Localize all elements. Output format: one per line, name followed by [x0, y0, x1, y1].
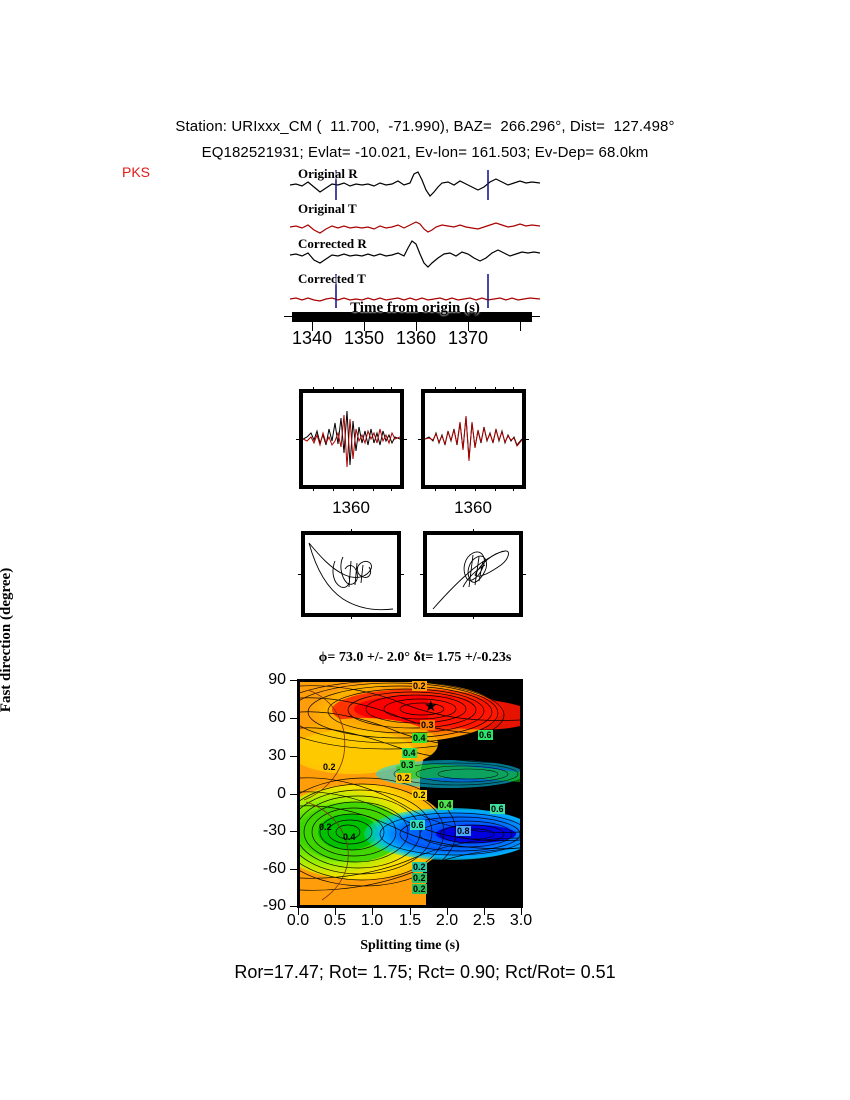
contour-label: 0.2	[412, 681, 427, 691]
contour-label: 0.6	[490, 804, 505, 814]
y-tick-90: 90	[238, 671, 286, 689]
contour-label: 0.2	[412, 873, 427, 883]
trace-label-original-t: Original T	[298, 201, 357, 217]
panel-corrected-particle-motion	[423, 531, 523, 617]
time-tick-1360: 1360	[391, 328, 441, 349]
contour-label: 0.3	[420, 720, 435, 730]
contour-label: 0.2	[412, 884, 427, 894]
contour-y-axis-label: Fast direction (degree)	[0, 540, 15, 740]
energy-contour-plot: 0.2 0.3 0.4 0.6 0.2 0.4 0.3 0.2 0.2 0.2 …	[297, 679, 523, 908]
time-axis-labels: 1340 1350 1360 1370	[270, 328, 560, 354]
time-tick-1370: 1370	[443, 328, 493, 349]
contour-label: 0.2	[396, 773, 411, 783]
time-axis-title: Time from origin (s)	[290, 300, 540, 317]
contour-label: 0.6	[478, 730, 493, 740]
trace-label-corrected-t: Corrected T	[298, 271, 366, 287]
contour-label: 0.3	[400, 760, 415, 770]
contour-x-axis-label: Splitting time (s)	[297, 938, 523, 954]
contour-surface	[300, 682, 520, 905]
splitting-analysis-figure: Station: URIxxx_CM ( 11.700, -71.990), B…	[0, 0, 850, 1100]
quality-metrics-footer: Ror=17.47; Rot= 1.75; Rct= 0.90; Rct/Rot…	[0, 962, 850, 983]
y-tick-0: 0	[238, 785, 286, 803]
contour-label: 0.4	[412, 733, 427, 743]
time-tick-1350: 1350	[339, 328, 389, 349]
contour-label: 0.8	[456, 826, 471, 836]
time-tick-1340: 1340	[287, 328, 337, 349]
trace-label-original-r: Original R	[298, 166, 358, 182]
y-tick-60: 60	[238, 709, 286, 727]
panel-tick-label-right: 1360	[428, 498, 518, 518]
station-header-line: Station: URIxxx_CM ( 11.700, -71.990), B…	[0, 118, 850, 135]
contour-label: 0.4	[402, 748, 417, 758]
y-tick-m30: -30	[238, 822, 286, 840]
pks-phase-label: PKS	[122, 164, 150, 180]
contour-label: 0.2	[322, 762, 337, 772]
contour-plot-title: ϕ= 73.0 +/- 2.0° δt= 1.75 +/-0.23s	[250, 650, 580, 666]
panel-corrected-fast-slow	[421, 389, 526, 489]
trace-label-corrected-r: Corrected R	[298, 236, 367, 252]
contour-label: 0.4	[342, 832, 357, 842]
contour-label: 0.6	[410, 820, 425, 830]
y-tick-m60: -60	[238, 860, 286, 878]
panel-uncorrected-fast-slow	[299, 389, 404, 489]
x-tick-3.0: 3.0	[498, 912, 544, 930]
contour-label: 0.4	[438, 800, 453, 810]
y-tick-30: 30	[238, 747, 286, 765]
minimum-marker-star: ★	[424, 699, 437, 714]
event-header-line: EQ182521931; Evlat= -10.021, Ev-lon= 161…	[0, 144, 850, 161]
contour-label: 0.2	[318, 822, 333, 832]
contour-label: 0.2	[412, 790, 427, 800]
panel-uncorrected-particle-motion	[301, 531, 401, 617]
panel-tick-label-left: 1360	[306, 498, 396, 518]
contour-label: 0.2	[412, 862, 427, 872]
